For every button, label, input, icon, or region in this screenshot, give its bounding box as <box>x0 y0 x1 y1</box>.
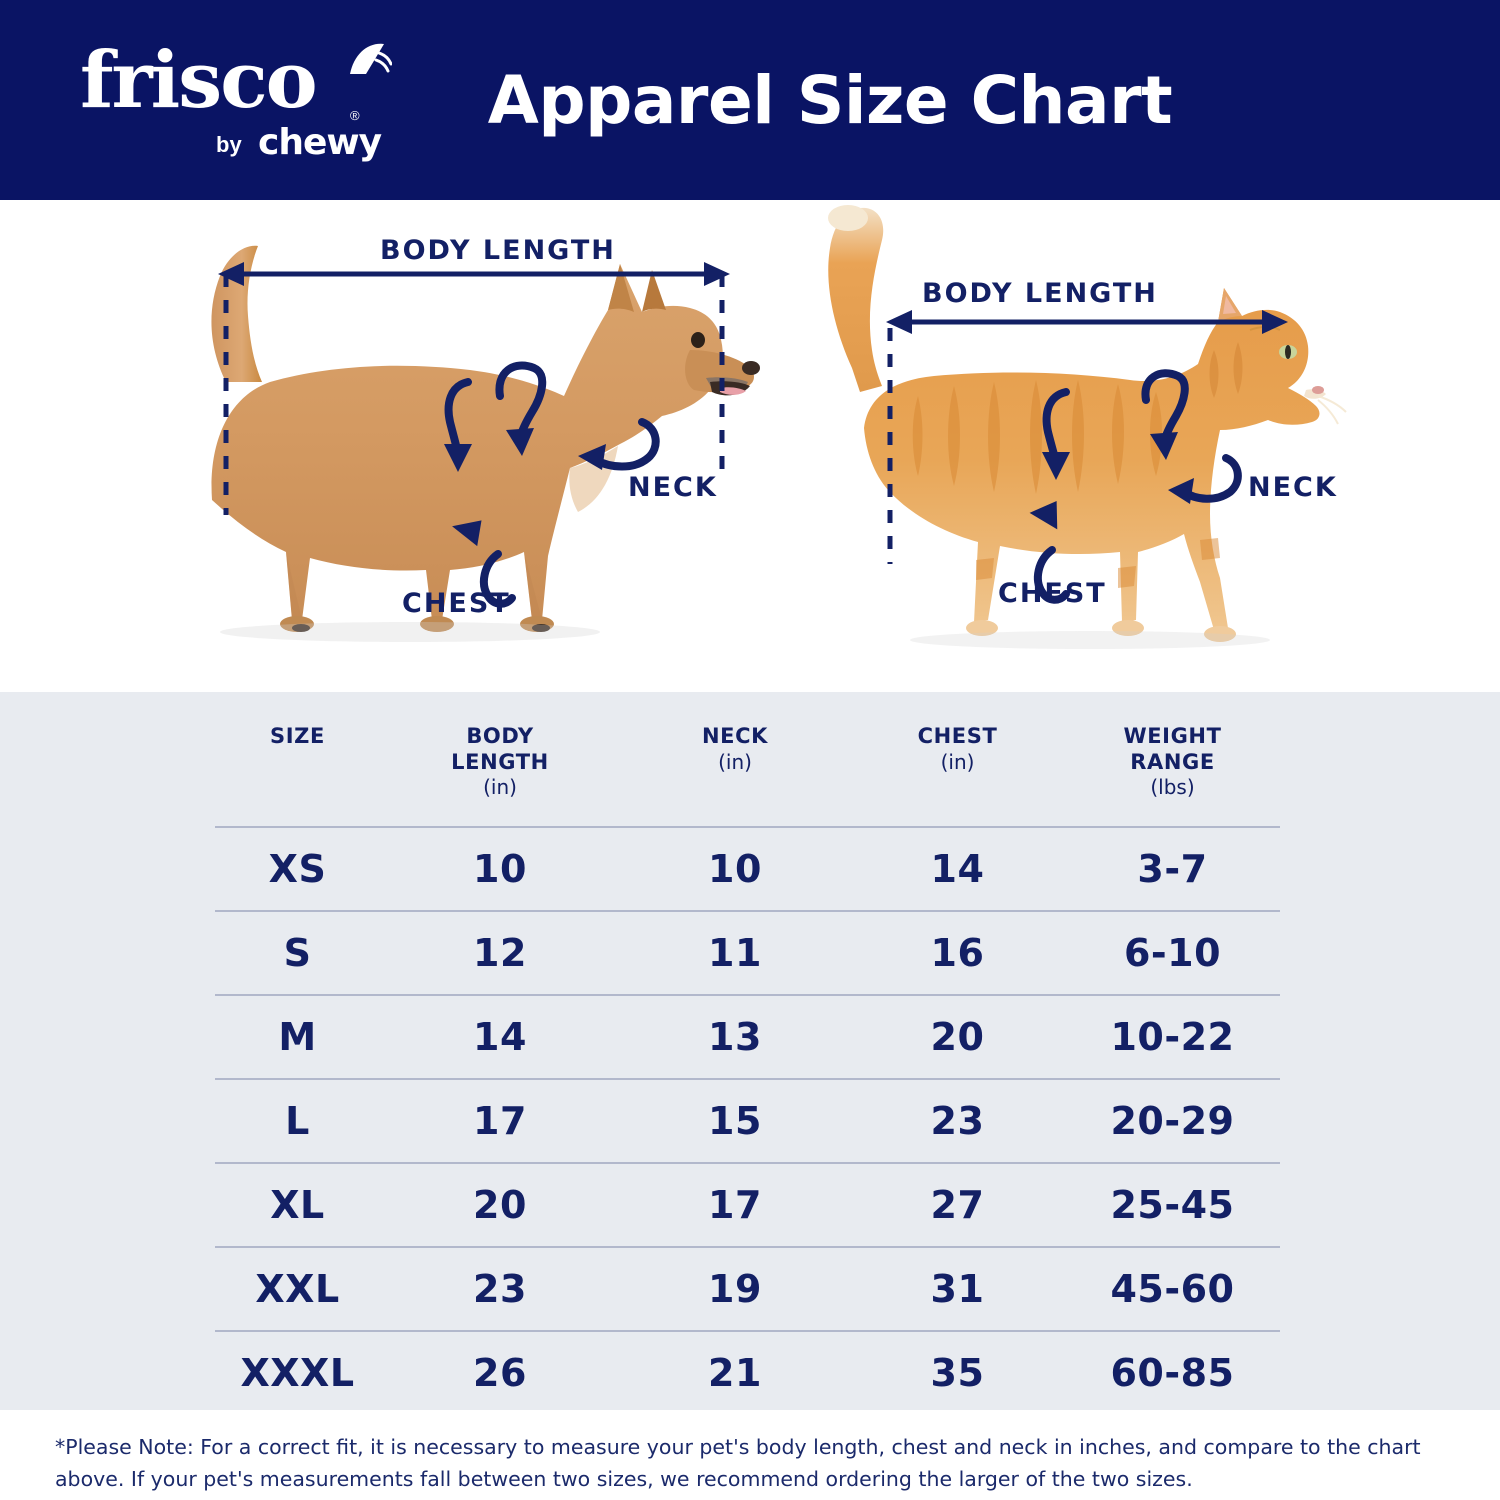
page-title: Apparel Size Chart <box>0 0 1500 200</box>
cell-size: XL <box>215 1163 380 1247</box>
table-row: XL 20 17 27 25-45 <box>215 1163 1280 1247</box>
cell-body-length: 12 <box>380 911 620 995</box>
page-header: frisco ® by chewy Apparel Size Chart <box>0 0 1500 200</box>
cat-chest-label: CHEST <box>998 578 1107 609</box>
column-header-neck: NECK (in) <box>620 692 850 827</box>
cat-body-length-label: BODY LENGTH <box>922 278 1158 309</box>
cell-body-length: 10 <box>380 827 620 911</box>
measurement-diagrams: BODY LENGTH NECK CHEST <box>0 200 1500 692</box>
column-header-chest: CHEST (in) <box>850 692 1065 827</box>
cell-chest: 20 <box>850 995 1065 1079</box>
table-body: XS 10 10 14 3-7 S 12 11 16 6-10 M 14 13 <box>215 827 1280 1415</box>
column-header-size: SIZE <box>215 692 380 827</box>
footnote-text: *Please Note: For a correct fit, it is n… <box>55 1432 1445 1496</box>
cell-weight-range: 20-29 <box>1065 1079 1280 1163</box>
cell-neck: 10 <box>620 827 850 911</box>
table-row: S 12 11 16 6-10 <box>215 911 1280 995</box>
table-row: M 14 13 20 10-22 <box>215 995 1280 1079</box>
cell-neck: 13 <box>620 995 850 1079</box>
cat-neck-label: NECK <box>1248 472 1338 503</box>
cell-chest: 31 <box>850 1247 1065 1331</box>
cell-neck: 15 <box>620 1079 850 1163</box>
cell-body-length: 17 <box>380 1079 620 1163</box>
cell-chest: 27 <box>850 1163 1065 1247</box>
table-row: XXL 23 19 31 45-60 <box>215 1247 1280 1331</box>
cell-size: XXL <box>215 1247 380 1331</box>
size-table-band: SIZE BODY LENGTH (in) NECK (in) CHEST (i… <box>0 692 1500 1410</box>
column-header-body-length: BODY LENGTH (in) <box>380 692 620 827</box>
table-row: L 17 15 23 20-29 <box>215 1079 1280 1163</box>
cell-body-length: 23 <box>380 1247 620 1331</box>
dog-chest-label: CHEST <box>402 588 511 619</box>
table-header: SIZE BODY LENGTH (in) NECK (in) CHEST (i… <box>215 692 1280 827</box>
cell-weight-range: 10-22 <box>1065 995 1280 1079</box>
table-row: XXXL 26 21 35 60-85 <box>215 1331 1280 1415</box>
cell-weight-range: 60-85 <box>1065 1331 1280 1415</box>
cell-size: L <box>215 1079 380 1163</box>
dog-neck-label: NECK <box>628 472 718 503</box>
size-chart-page: frisco ® by chewy Apparel Size Chart <box>0 0 1500 1500</box>
cell-weight-range: 45-60 <box>1065 1247 1280 1331</box>
cell-neck: 17 <box>620 1163 850 1247</box>
cell-neck: 11 <box>620 911 850 995</box>
cell-weight-range: 25-45 <box>1065 1163 1280 1247</box>
cat-measure-overlay <box>790 200 1350 692</box>
dog-body-length-label: BODY LENGTH <box>380 235 616 266</box>
cell-body-length: 20 <box>380 1163 620 1247</box>
apparel-size-table: SIZE BODY LENGTH (in) NECK (in) CHEST (i… <box>215 692 1280 1415</box>
table-row: XS 10 10 14 3-7 <box>215 827 1280 911</box>
cell-size: XS <box>215 827 380 911</box>
cell-chest: 14 <box>850 827 1065 911</box>
cell-weight-range: 6-10 <box>1065 911 1280 995</box>
cat-diagram: BODY LENGTH NECK CHEST <box>790 200 1350 692</box>
footnote-band: *Please Note: For a correct fit, it is n… <box>0 1410 1500 1500</box>
cell-neck: 21 <box>620 1331 850 1415</box>
cell-body-length: 26 <box>380 1331 620 1415</box>
dog-diagram: BODY LENGTH NECK CHEST <box>150 200 770 692</box>
cell-chest: 16 <box>850 911 1065 995</box>
cell-weight-range: 3-7 <box>1065 827 1280 911</box>
cell-size: M <box>215 995 380 1079</box>
table-header-row: SIZE BODY LENGTH (in) NECK (in) CHEST (i… <box>215 692 1280 827</box>
cell-size: S <box>215 911 380 995</box>
cell-chest: 23 <box>850 1079 1065 1163</box>
cell-size: XXXL <box>215 1331 380 1415</box>
cell-chest: 35 <box>850 1331 1065 1415</box>
cell-neck: 19 <box>620 1247 850 1331</box>
cell-body-length: 14 <box>380 995 620 1079</box>
column-header-weight-range: WEIGHT RANGE (lbs) <box>1065 692 1280 827</box>
